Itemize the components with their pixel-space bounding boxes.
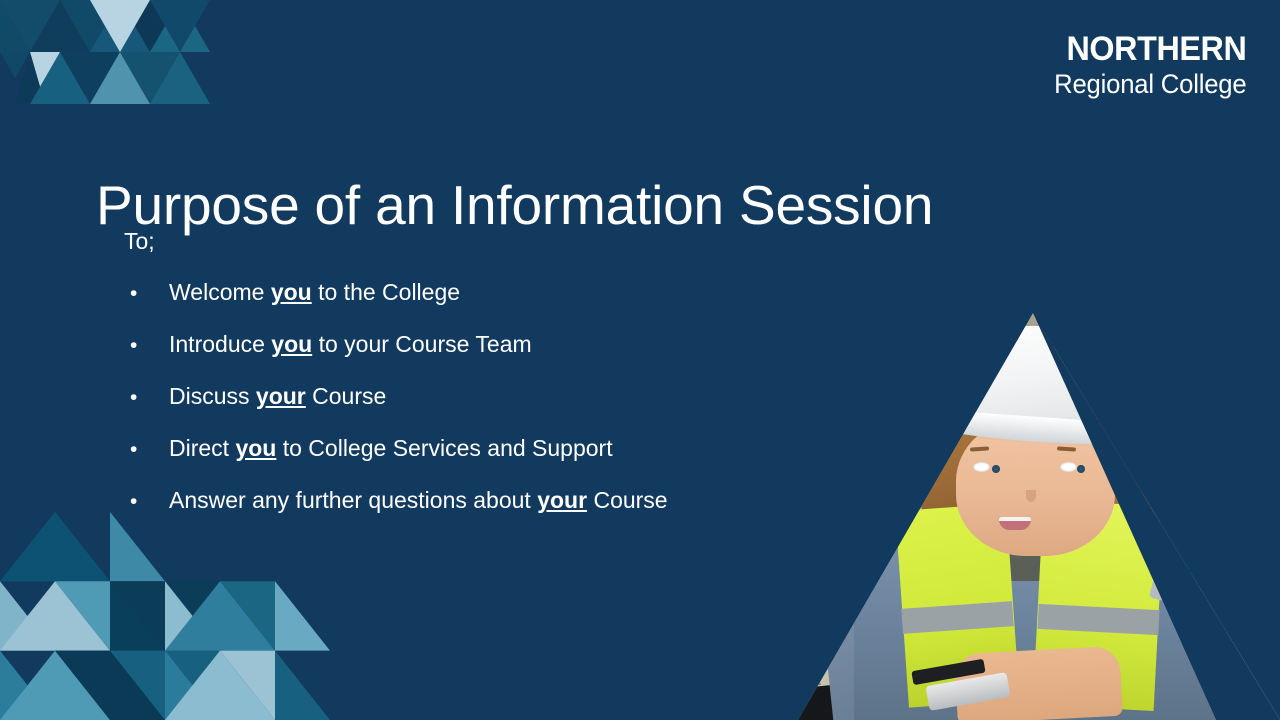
mosaic-triangle <box>120 52 180 104</box>
mosaic-triangle <box>30 52 60 104</box>
mosaic-triangle <box>55 581 110 650</box>
mosaic-triangle <box>0 581 55 650</box>
construction-student-photo <box>796 310 1280 720</box>
mosaic-triangle <box>165 651 220 720</box>
bullet-text: Answer any further questions about your … <box>169 487 844 515</box>
decorative-triangle-mosaic-top-left <box>0 0 210 120</box>
taskbar-icon-4 <box>1078 323 1085 330</box>
mosaic-triangle <box>150 52 210 104</box>
mosaic-triangle <box>220 581 275 650</box>
mosaic-triangle <box>275 651 330 720</box>
bullet-item: •Direct you to College Services and Supp… <box>124 435 844 487</box>
mosaic-triangle <box>220 651 275 720</box>
mosaic-triangle <box>165 581 220 650</box>
mosaic-triangle <box>110 581 220 650</box>
bullet-item: •Answer any further questions about your… <box>124 487 844 539</box>
college-logo: NORTHERN Regional College <box>1044 32 1246 98</box>
bullet-emphasis: you <box>235 435 276 461</box>
taskbar-icon-3 <box>1068 323 1075 330</box>
bullet-list: •Welcome you to the College•Introduce yo… <box>124 279 844 539</box>
mosaic-triangle <box>90 52 150 104</box>
bullet-text: Direct you to College Services and Suppo… <box>169 435 844 463</box>
photo-iris-right <box>1077 465 1085 473</box>
bullet-marker-icon: • <box>124 283 169 304</box>
bullet-emphasis: you <box>271 279 312 305</box>
bullet-item: •Welcome you to the College <box>124 279 844 331</box>
bullet-marker-icon: • <box>124 439 169 460</box>
logo-secondary-text: Regional College <box>1054 71 1246 98</box>
bullet-emphasis: your <box>256 383 306 409</box>
logo-primary-text: NORTHERN <box>1054 32 1246 66</box>
bullet-item: •Introduce you to your Course Team <box>124 331 844 383</box>
taskbar-icon-6 <box>1098 323 1105 330</box>
photo-iris-left <box>992 465 1000 473</box>
mosaic-triangle <box>60 0 120 52</box>
mosaic-triangle <box>60 52 120 104</box>
mosaic-triangle <box>90 0 150 52</box>
bullet-emphasis: you <box>271 331 312 357</box>
mosaic-triangle <box>150 0 210 52</box>
photo-eye-right <box>1060 462 1077 472</box>
mosaic-triangle <box>0 651 55 720</box>
mosaic-triangle <box>275 581 330 650</box>
photo-monitor-taskbar <box>1048 320 1213 333</box>
bullet-emphasis: your <box>537 487 587 513</box>
mosaic-triangle <box>150 0 210 52</box>
mosaic-triangle <box>0 581 110 650</box>
bullet-text: Welcome you to the College <box>169 279 844 307</box>
mosaic-triangle <box>0 651 110 720</box>
mosaic-triangle <box>30 52 90 104</box>
bullet-text: Introduce you to your Course Team <box>169 331 844 359</box>
mosaic-triangle <box>55 651 110 720</box>
slide-body: To; •Welcome you to the College•Introduc… <box>124 228 844 539</box>
photo-collage-triangle <box>796 310 1280 720</box>
mosaic-triangle <box>120 0 180 52</box>
presentation-slide: NORTHERN Regional College Purpose of an … <box>0 0 1280 720</box>
mosaic-triangle <box>0 512 110 581</box>
photo-smile <box>999 517 1031 530</box>
intro-text: To; <box>124 228 844 256</box>
mosaic-triangle <box>110 651 220 720</box>
bullet-marker-icon: • <box>124 491 169 512</box>
bullet-marker-icon: • <box>124 387 169 408</box>
mosaic-triangle <box>0 52 30 78</box>
mosaic-triangle <box>165 581 275 650</box>
mosaic-triangle <box>110 651 165 720</box>
bullet-text: Discuss your Course <box>169 383 844 411</box>
taskbar-icon-2 <box>1058 323 1065 330</box>
taskbar-icon-5 <box>1088 323 1095 330</box>
mosaic-triangle <box>0 0 30 52</box>
photo-eye-left <box>973 462 990 472</box>
mosaic-top-left-svg <box>0 0 210 120</box>
mosaic-triangle <box>0 0 60 52</box>
bullet-marker-icon: • <box>124 335 169 356</box>
mosaic-triangle <box>90 0 150 52</box>
mosaic-triangle <box>15 52 45 104</box>
bullet-item: •Discuss your Course <box>124 383 844 435</box>
taskbar-icon-1 <box>1048 323 1055 330</box>
mosaic-triangle <box>165 651 275 720</box>
mosaic-triangle <box>110 581 165 650</box>
photo-vest-shoulder-strip <box>1149 510 1222 610</box>
mosaic-triangle <box>30 0 90 52</box>
